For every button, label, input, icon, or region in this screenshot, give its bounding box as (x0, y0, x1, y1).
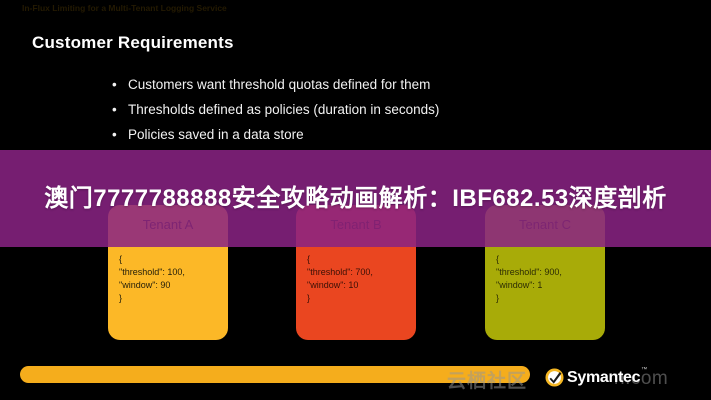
footer-bar-label: In-Flux Limiting for a Multi-Tenant Logg… (22, 2, 227, 15)
slide-canvas: Customer Requirements • Customers want t… (0, 0, 711, 400)
bullet-icon: • (112, 122, 117, 147)
symantec-check-icon (545, 368, 564, 387)
bullet-icon: • (112, 72, 117, 97)
tenant-policy-json: { "threshold": 100, "window": 90 } (119, 253, 185, 305)
trademark-symbol: ™ (641, 366, 647, 375)
list-item: • Policies saved in a data store (112, 122, 582, 147)
tenant-policy-json: { "threshold": 700, "window": 10 } (307, 253, 373, 305)
list-item-label: Customers want threshold quotas defined … (128, 77, 430, 92)
page-title: Customer Requirements (32, 33, 234, 53)
overlay-banner: 澳门7777788888安全攻略动画解析：IBF682.53深度剖析 (0, 150, 711, 247)
list-item-label: Policies saved in a data store (128, 127, 304, 142)
watermark-site-name: 云栖社区 (447, 366, 527, 393)
symantec-logo: Symantec ™ (545, 366, 647, 388)
bullet-icon: • (112, 97, 117, 122)
requirements-list: • Customers want threshold quotas define… (112, 72, 582, 147)
overlay-banner-text: 澳门7777788888安全攻略动画解析：IBF682.53深度剖析 (0, 180, 711, 218)
tenant-policy-json: { "threshold": 900, "window": 1 } (496, 253, 562, 305)
symantec-wordmark: Symantec (567, 368, 640, 387)
list-item: • Thresholds defined as policies (durati… (112, 97, 582, 122)
list-item-label: Thresholds defined as policies (duration… (128, 102, 439, 117)
list-item: • Customers want threshold quotas define… (112, 72, 582, 97)
